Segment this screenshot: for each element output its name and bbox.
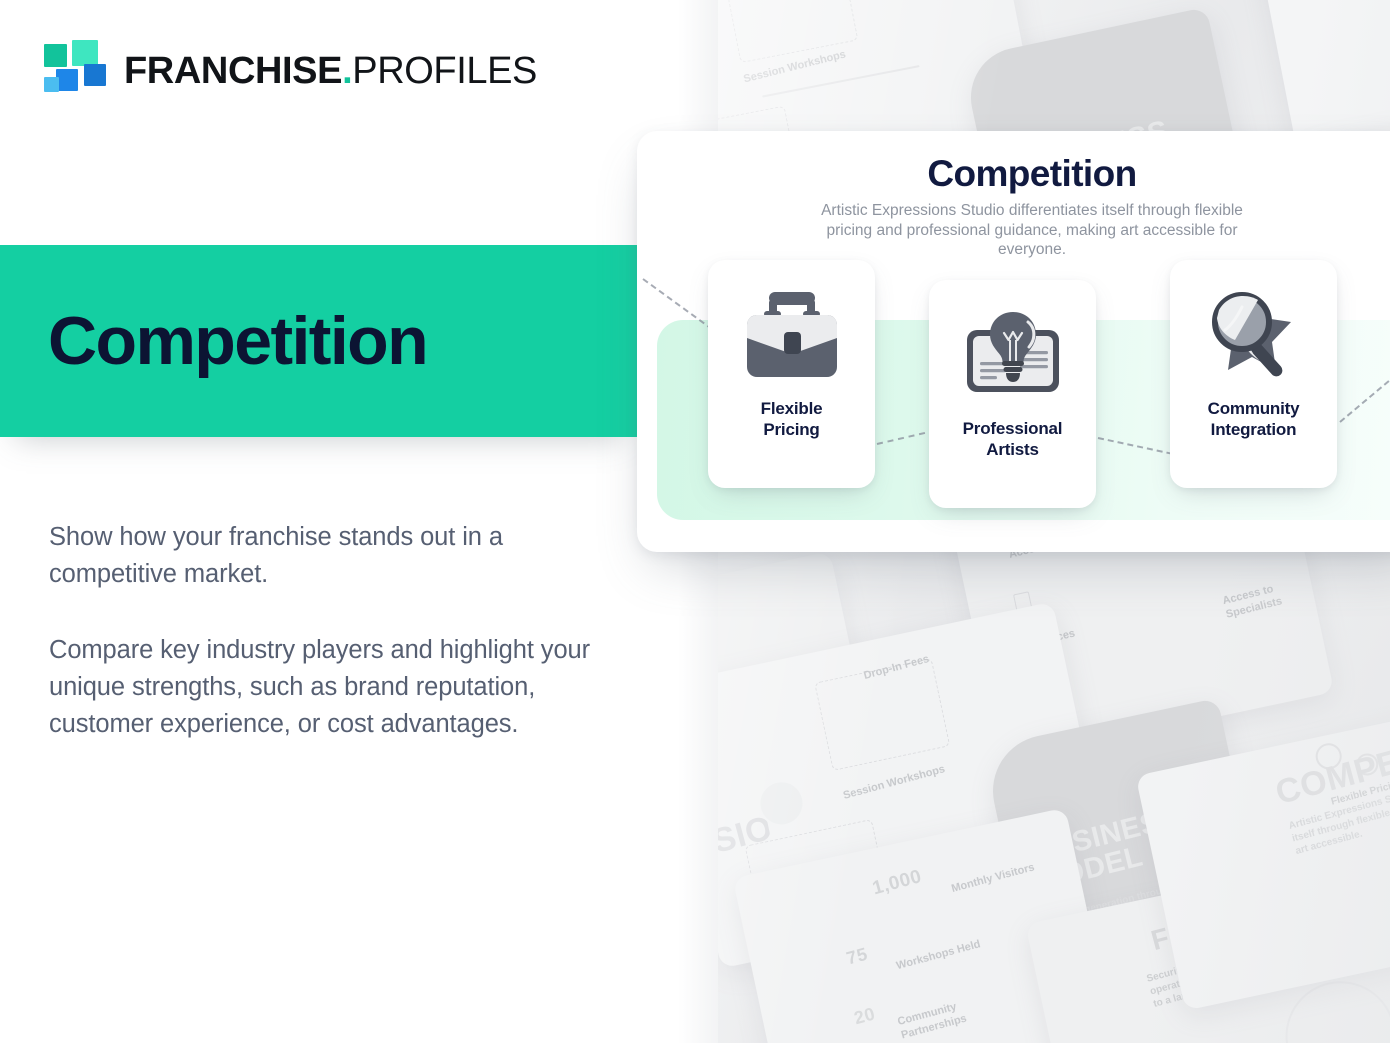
feature-label-line2: Integration <box>1211 420 1297 439</box>
ghost-label: Monthly Visitors <box>950 861 1036 895</box>
feature-label: Professional Artists <box>963 418 1063 460</box>
feature-card-flexible-pricing[interactable]: Flexible Pricing <box>708 260 875 488</box>
feature-label-line1: Community <box>1208 399 1300 418</box>
magnifier-star-icon <box>1195 284 1313 388</box>
ghost-slide: Drop-In Fees Session Workshops Commissio… <box>717 602 1113 969</box>
ghost-slide <box>717 551 878 838</box>
ghost-label: Session Workshops <box>842 763 946 802</box>
description-paragraph-1: Show how your franchise stands out in a … <box>49 519 619 593</box>
ghost-metric-value: 20 <box>852 1003 878 1029</box>
feature-label-line2: Pricing <box>763 420 819 439</box>
brand-logo[interactable]: FRANCHISE.PROFILES <box>44 40 537 102</box>
slide-preview-card[interactable]: Competition Artistic Expressions Studio … <box>637 131 1390 552</box>
feature-label-line1: Professional <box>963 419 1063 438</box>
slide-subtitle: Artistic Expressions Studio differentiat… <box>812 201 1252 260</box>
ghost-slide-business-model: BUSINESS MODEL Revenue generation throug… <box>983 698 1272 1002</box>
briefcase-icon <box>733 284 851 388</box>
pixel-squares-logo-icon <box>44 40 106 102</box>
ghost-label: Drop-In Fees <box>862 653 930 682</box>
section-title-banner: Competition <box>0 245 638 437</box>
ghost-label: Revenue generation through diverse strea… <box>1040 868 1239 953</box>
page-title: Competition <box>48 307 427 375</box>
ghost-label: Session Workshops <box>742 48 847 85</box>
ghost-slide: COMPETITION Artistic Expressions Studio … <box>1259 656 1390 1004</box>
left-info-column: FRANCHISE.PROFILES Competition Show how … <box>0 0 718 1043</box>
ghost-label: Limited Resources <box>1015 605 1109 654</box>
feature-label-line1: Flexible <box>761 399 823 418</box>
lightbulb-certificate-icon <box>954 304 1072 408</box>
feature-label: Community Integration <box>1208 398 1300 440</box>
slide-title: Competition <box>637 153 1390 195</box>
ghost-label: Flexible Pricing <box>1330 775 1390 808</box>
ghost-slide-metrics: 1,000 Monthly Visitors 75 Workshops Held… <box>733 808 1122 1043</box>
ghost-title: VISION <box>717 802 801 870</box>
ghost-slide-fundraising: FUNDRAISING Securing investment to scale… <box>1025 841 1390 1043</box>
ghost-label: Workshops Held <box>895 938 982 972</box>
brand-name-light: PROFILES <box>352 52 537 90</box>
brand-wordmark: FRANCHISE.PROFILES <box>124 52 537 90</box>
feature-card-professional-artists[interactable]: Professional Artists <box>929 280 1096 508</box>
ghost-title: COMPETITION <box>1272 713 1390 813</box>
brand-name-bold: FRANCHISE <box>124 52 342 90</box>
ghost-label: Securing investment to scale our operati… <box>1145 927 1329 1011</box>
ghost-label: Artistic Expressions Studio differentiat… <box>1287 766 1390 858</box>
ghost-slide-competition: Flexible Pricing Professional Artists Co… <box>1136 709 1390 1010</box>
ghost-metric-value: 75 <box>844 944 870 970</box>
description-block: Show how your franchise stands out in a … <box>49 519 619 743</box>
description-paragraph-2: Compare key industry players and highlig… <box>49 632 619 743</box>
feature-label-line2: Artists <box>986 440 1038 459</box>
slide-preview-screen: Drop-In Fees Session Workshops Commissio… <box>0 0 1390 1043</box>
ghost-title: FUNDRAISING <box>1148 874 1349 957</box>
ghost-metric-value: 1,000 <box>870 866 924 900</box>
feature-label: Flexible Pricing <box>761 398 823 440</box>
ghost-label: Commissioned Art Sales <box>757 872 885 917</box>
ghost-title: BUSINESS MODEL <box>1028 788 1250 896</box>
feature-card-community-integration[interactable]: Community Integration <box>1170 260 1337 488</box>
ghost-label: Community Partnerships <box>896 995 981 1043</box>
brand-dot: . <box>342 52 352 90</box>
ghost-slide-vision: VISION <box>717 762 813 1043</box>
ghost-label: Access to Specialists <box>1221 578 1296 622</box>
